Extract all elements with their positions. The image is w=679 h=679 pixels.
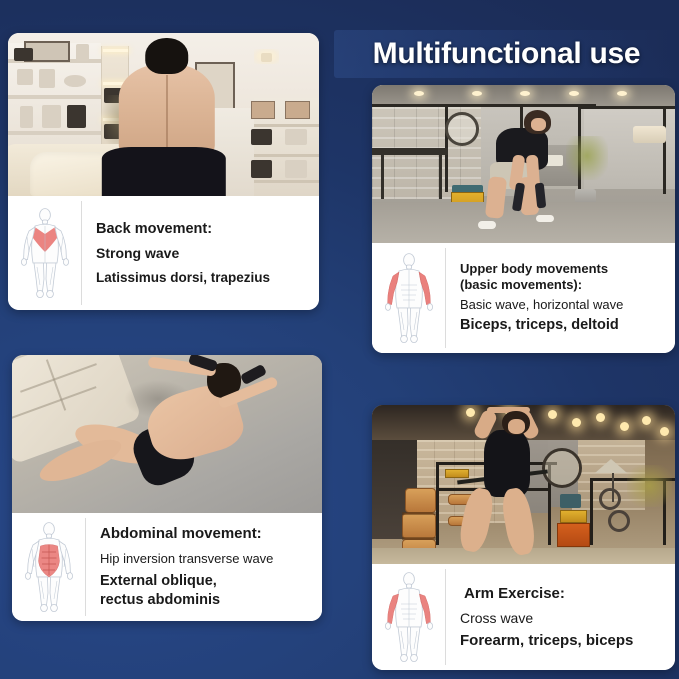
body-diagram-abdomen-icon: [12, 518, 86, 616]
photo-man-bent-over-gym: [372, 85, 675, 243]
line-arm-2: Forearm, triceps, biceps: [460, 631, 667, 651]
line-upper-0: Upper body movements: [460, 261, 667, 277]
info-panel-back: Back movement: Strong wave Latissimus do…: [8, 196, 319, 310]
photo-woman-arm-exercise-gym: [372, 405, 675, 564]
body-diagram-forearms-svg: [380, 571, 438, 663]
line-abs-1: Hip inversion transverse wave: [100, 550, 314, 568]
body-diagram-arms-svg: [380, 252, 438, 344]
photo-man-floor-abs: [12, 355, 322, 513]
text-col-arm: Arm Exercise: Cross wave Forearm, tricep…: [446, 569, 675, 665]
line-back-2: Latissimus dorsi, trapezius: [96, 269, 311, 287]
line-back-0: Back movement:: [96, 220, 311, 240]
text-col-upper-body: Upper body movements (basic movements): …: [446, 248, 675, 348]
line-abs-3: rectus abdominis: [100, 591, 314, 610]
text-col-abdominal: Abdominal movement: Hip inversion transv…: [86, 518, 322, 616]
info-panel-arm: Arm Exercise: Cross wave Forearm, tricep…: [372, 564, 675, 670]
line-abs-2: External oblique,: [100, 572, 314, 591]
info-panel-abdominal: Abdominal movement: Hip inversion transv…: [12, 513, 322, 621]
line-back-1: Strong wave: [96, 244, 311, 264]
poster-root: Multifunctional use: [0, 0, 679, 679]
card-back[interactable]: Back movement: Strong wave Latissimus do…: [8, 33, 319, 310]
line-arm-0: Arm Exercise:: [460, 584, 667, 604]
card-arm-exercise[interactable]: Arm Exercise: Cross wave Forearm, tricep…: [372, 405, 675, 670]
body-diagram-back-svg: [16, 207, 74, 299]
line-arm-1: Cross wave: [460, 609, 667, 628]
photo-man-back-living-room: [8, 33, 319, 196]
text-col-back: Back movement: Strong wave Latissimus do…: [82, 201, 319, 305]
info-panel-upper-body: Upper body movements (basic movements): …: [372, 243, 675, 353]
card-abdominal[interactable]: Abdominal movement: Hip inversion transv…: [12, 355, 322, 621]
line-upper-3: Biceps, triceps, deltoid: [460, 316, 667, 335]
page-title: Multifunctional use: [334, 28, 679, 80]
line-upper-2: Basic wave, horizontal wave: [460, 296, 667, 314]
body-diagram-forearms-icon: [372, 569, 446, 665]
body-diagram-abdomen-svg: [20, 521, 78, 613]
line-abs-0: Abdominal movement:: [100, 524, 314, 544]
line-upper-1: (basic movements):: [460, 277, 667, 293]
card-upper-body[interactable]: Upper body movements (basic movements): …: [372, 85, 675, 353]
body-diagram-arms-front-icon: [372, 248, 446, 348]
body-diagram-back-icon: [8, 201, 82, 305]
